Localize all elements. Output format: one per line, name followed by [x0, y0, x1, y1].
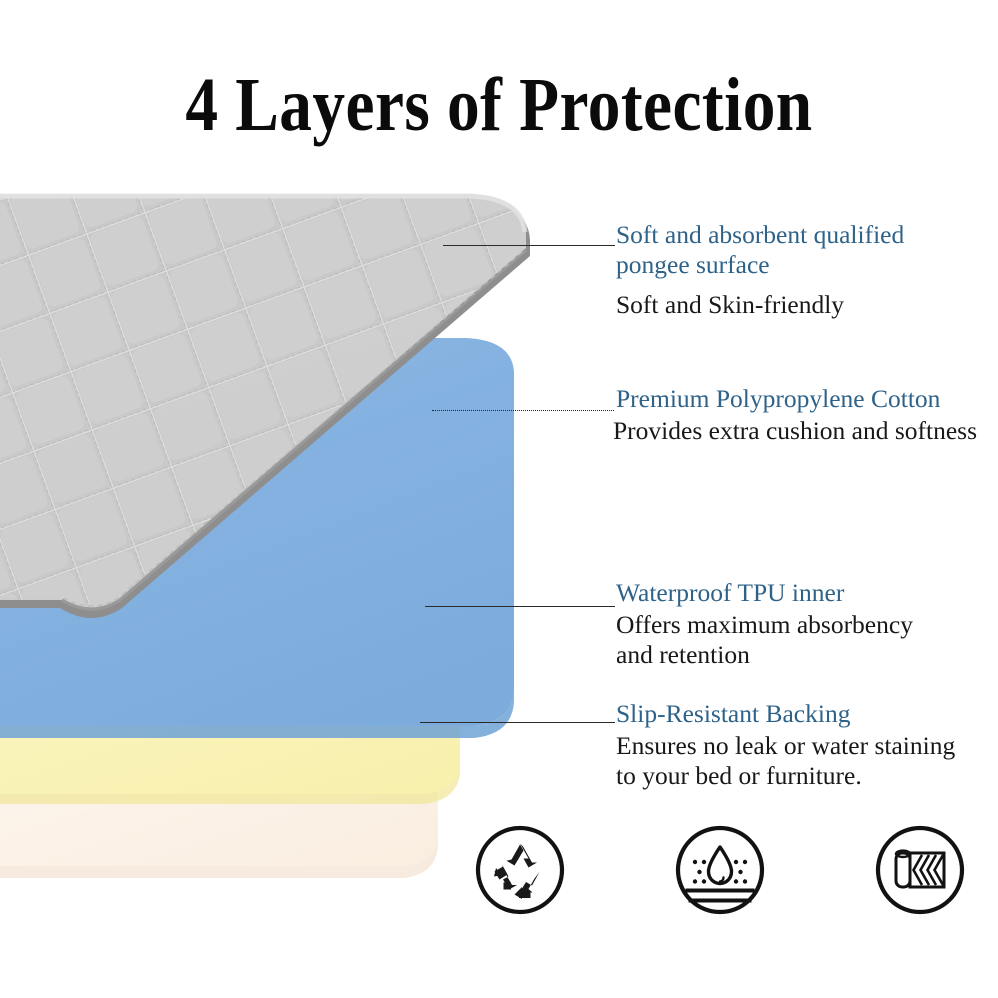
waterproof-droplet-icon [670, 820, 770, 920]
badge-waterproof [670, 820, 770, 920]
badge-fabric-roll [870, 820, 970, 920]
callout-subtext: Ensures no leak or water staining to you… [616, 731, 998, 791]
callout-slip-resistant-backing: Slip-Resistant Backing Ensures no leak o… [616, 699, 998, 791]
callout-headline: Waterproof TPU inner [616, 578, 998, 608]
layer-stack-illustration [0, 0, 640, 920]
leader-line-layer-1 [443, 245, 615, 246]
fabric-roll-icon [870, 820, 970, 920]
callout-headline: Slip-Resistant Backing [616, 699, 998, 729]
callout-subtext: Offers maximum absorbency and retention [616, 610, 998, 670]
badge-recyclable [470, 820, 570, 920]
callout-headline: Soft and absorbent qualified pongee surf… [616, 220, 998, 280]
callout-pongee-surface: Soft and absorbent qualified pongee surf… [616, 220, 998, 320]
callout-headline: Premium Polypropylene Cotton [616, 384, 998, 414]
layers-infographic: 4 Layers of Protection [0, 0, 998, 998]
badge-row [470, 820, 970, 940]
callout-tpu-inner: Waterproof TPU inner Offers maximum abso… [616, 578, 998, 670]
leader-line-layer-4 [420, 722, 615, 723]
callout-subtext: Soft and Skin-friendly [616, 290, 998, 320]
leader-line-layer-2 [432, 410, 614, 411]
callout-polypropylene-cotton: Premium Polypropylene Cotton Provides ex… [616, 384, 998, 446]
callout-subtext: Provides extra cushion and softness [613, 416, 998, 446]
leader-line-layer-3 [425, 606, 615, 607]
recycle-icon [470, 820, 570, 920]
